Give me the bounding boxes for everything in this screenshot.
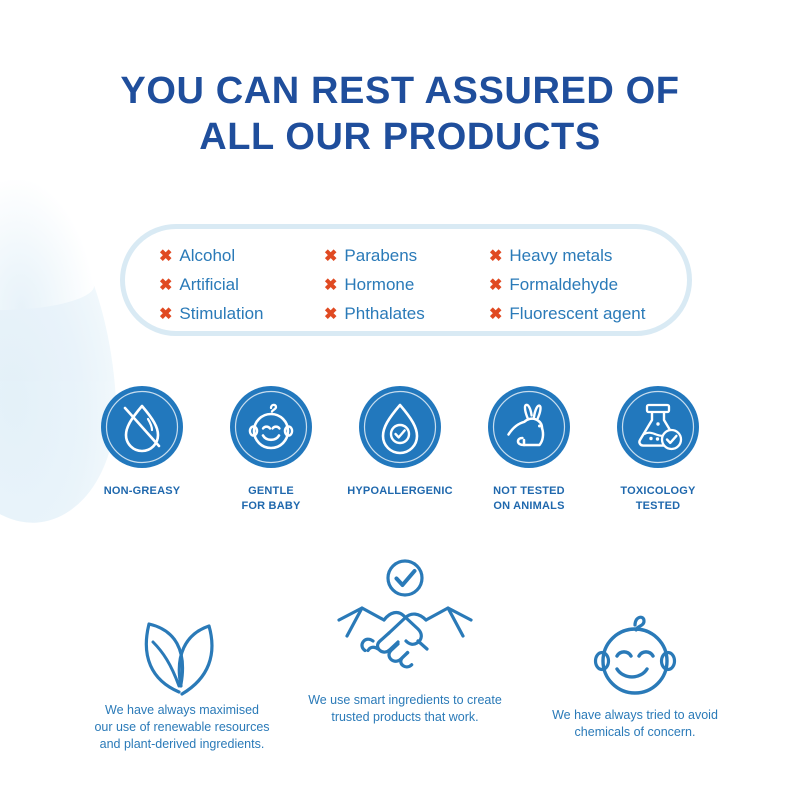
pillar-trusted-products: We use smart ingredients to create trust… (290, 558, 520, 726)
pillar-caption-line: trusted products that work. (290, 709, 520, 726)
badge-label: NON-GREASY (80, 484, 204, 499)
cross-icon: ✖ (324, 300, 337, 329)
free-from-label: Phthalates (344, 299, 424, 328)
rabbit-icon (488, 386, 570, 468)
cross-icon: ✖ (159, 271, 172, 300)
badge-circle (230, 386, 312, 468)
badge-label-line: GENTLE (209, 484, 333, 499)
pillar-caption: We have always tried to avoid chemicals … (515, 707, 755, 741)
pillar-avoid-chemicals: We have always tried to avoid chemicals … (515, 605, 755, 741)
free-from-item: ✖ Formaldehyde (489, 270, 689, 299)
pillar-caption-line: We use smart ingredients to create (290, 692, 520, 709)
free-from-item: ✖ Fluorescent agent (489, 299, 689, 328)
free-from-item: ✖ Alcohol (159, 241, 324, 270)
free-from-columns: ✖ Alcohol ✖ Artificial ✖ Stimulation ✖ P… (159, 241, 689, 328)
badge-not-tested-on-animals: NOT TESTED ON ANIMALS (467, 386, 591, 514)
free-from-label: Hormone (344, 270, 414, 299)
free-from-item: ✖ Artificial (159, 270, 324, 299)
free-from-label: Heavy metals (509, 241, 612, 270)
page-title-line-1: YOU CAN REST ASSURED OF (0, 68, 800, 114)
badge-circle (359, 386, 441, 468)
assurance-infographic: YOU CAN REST ASSURED OF ALL OUR PRODUCTS… (0, 0, 800, 800)
droplet-check-icon (359, 386, 441, 468)
badge-circle (101, 386, 183, 468)
free-from-item: ✖ Stimulation (159, 299, 324, 328)
badge-non-greasy: NON-GREASY (80, 386, 204, 514)
cross-icon: ✖ (489, 242, 502, 271)
baby-face-outline-icon (576, 605, 694, 701)
badge-gentle-for-baby: GENTLE FOR BABY (209, 386, 333, 514)
pillar-caption-line: We have always tried to avoid (515, 707, 755, 724)
cross-icon: ✖ (159, 300, 172, 329)
two-leaves-icon (127, 598, 237, 696)
handshake-check-icon (321, 558, 489, 686)
free-from-label: Parabens (344, 241, 417, 270)
cross-icon: ✖ (324, 242, 337, 271)
free-from-panel: ✖ Alcohol ✖ Artificial ✖ Stimulation ✖ P… (120, 224, 692, 336)
badge-label-line: NON-GREASY (80, 484, 204, 499)
pillar-caption-line: We have always maximised (62, 702, 302, 719)
pillar-caption-line: and plant-derived ingredients. (62, 736, 302, 753)
badge-label: GENTLE FOR BABY (209, 484, 333, 514)
free-from-item: ✖ Hormone (324, 270, 489, 299)
badge-label-line: NOT TESTED (467, 484, 591, 499)
pillar-caption-line: our use of renewable resources (62, 719, 302, 736)
pillar-renewable-ingredients: We have always maximised our use of rene… (62, 598, 302, 753)
baby-face-icon (230, 386, 312, 468)
free-from-label: Alcohol (179, 241, 235, 270)
badge-label: HYPOALLERGENIC (338, 484, 462, 499)
flask-check-icon (617, 386, 699, 468)
free-from-column-1: ✖ Alcohol ✖ Artificial ✖ Stimulation (159, 241, 324, 328)
free-from-label: Stimulation (179, 299, 263, 328)
badge-label: NOT TESTED ON ANIMALS (467, 484, 591, 514)
badge-label: TOXICOLOGY TESTED (596, 484, 720, 514)
badge-toxicology-tested: TOXICOLOGY TESTED (596, 386, 720, 514)
free-from-item: ✖ Heavy metals (489, 241, 689, 270)
certification-badges: NON-GREASY GENTLE FOR BABY (80, 386, 720, 514)
free-from-column-3: ✖ Heavy metals ✖ Formaldehyde ✖ Fluoresc… (489, 241, 689, 328)
cross-icon: ✖ (489, 300, 502, 329)
badge-circle (617, 386, 699, 468)
free-from-column-2: ✖ Parabens ✖ Hormone ✖ Phthalates (324, 241, 489, 328)
badge-circle (488, 386, 570, 468)
page-title: YOU CAN REST ASSURED OF ALL OUR PRODUCTS (0, 68, 800, 160)
free-from-label: Fluorescent agent (509, 299, 645, 328)
cross-icon: ✖ (489, 271, 502, 300)
pillar-caption: We use smart ingredients to create trust… (290, 692, 520, 726)
pillar-caption-line: chemicals of concern. (515, 724, 755, 741)
badge-label-line: FOR BABY (209, 499, 333, 514)
badge-label-line: ON ANIMALS (467, 499, 591, 514)
badge-label-line: TOXICOLOGY (596, 484, 720, 499)
badge-label-line: HYPOALLERGENIC (338, 484, 462, 499)
free-from-label: Formaldehyde (509, 270, 618, 299)
free-from-label: Artificial (179, 270, 239, 299)
droplet-crossed-icon (101, 386, 183, 468)
free-from-item: ✖ Phthalates (324, 299, 489, 328)
pillar-caption: We have always maximised our use of rene… (62, 702, 302, 753)
badge-label-line: TESTED (596, 499, 720, 514)
page-title-line-2: ALL OUR PRODUCTS (0, 114, 800, 160)
cross-icon: ✖ (324, 271, 337, 300)
badge-hypoallergenic: HYPOALLERGENIC (338, 386, 462, 514)
cross-icon: ✖ (159, 242, 172, 271)
free-from-item: ✖ Parabens (324, 241, 489, 270)
